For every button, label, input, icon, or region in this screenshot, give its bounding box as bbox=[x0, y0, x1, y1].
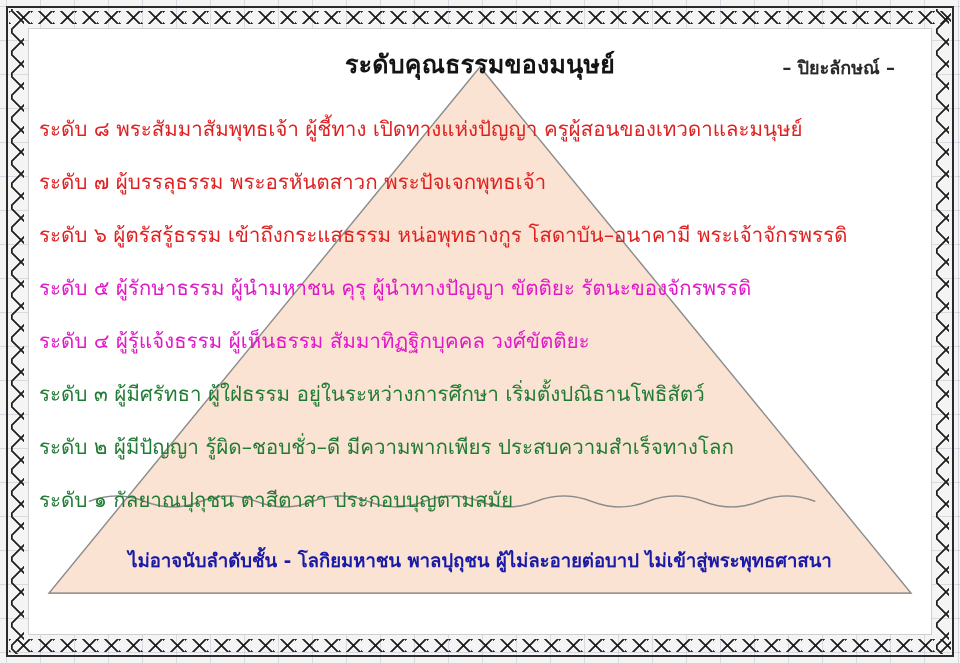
frame-zigzag-left bbox=[11, 9, 24, 654]
level-line-4: ระดับ ๔ ผู้รู้แจ้งธรรม ผู้เห็นธรรม สัมมา… bbox=[29, 315, 931, 368]
level-list: ระดับ ๘ พระสัมมาสัมพุทธเจ้า ผู้ชี้ทาง เป… bbox=[29, 103, 931, 527]
level-line-2: ระดับ ๒ ผู้มีปัญญา รู้ผิด–ชอบชั่ว–ดี มีค… bbox=[29, 421, 931, 474]
frame-zigzag-bottom bbox=[9, 639, 951, 652]
frame-zigzag-top bbox=[9, 11, 951, 24]
level-line-5: ระดับ ๕ ผู้รักษาธรรม ผู้นำมหาชน คุรุ ผู้… bbox=[29, 262, 931, 315]
footnote-text: ไม่อาจนับลำดับชั้น - โลกิยมหาชน พาลปุถุช… bbox=[29, 547, 931, 576]
frame-zigzag-right bbox=[936, 9, 949, 654]
level-line-8: ระดับ ๘ พระสัมมาสัมพุทธเจ้า ผู้ชี้ทาง เป… bbox=[29, 103, 931, 156]
level-line-1: ระดับ ๑ กัลยาณปุถุชน ตาสีตาสา ประกอบบุญต… bbox=[29, 474, 931, 527]
poster-page: ระดับคุณธรรมของมนุษย์ – ปิยะลักษณ์ – ระด… bbox=[28, 28, 932, 635]
poster-content: ระดับคุณธรรมของมนุษย์ – ปิยะลักษณ์ – ระด… bbox=[29, 29, 931, 634]
author-credit: – ปิยะลักษณ์ – bbox=[782, 53, 895, 82]
poster: ระดับคุณธรรมของมนุษย์ – ปิยะลักษณ์ – ระด… bbox=[0, 0, 960, 663]
level-line-7: ระดับ ๗ ผู้บรรลุธรรม พระอรหันตสาวก พระปั… bbox=[29, 156, 931, 209]
level-line-3: ระดับ ๓ ผู้มีศรัทธา ผู้ใฝ่ธรรม อยู่ในระห… bbox=[29, 368, 931, 421]
level-line-6: ระดับ ๖ ผู้ตรัสรู้ธรรม เข้าถึงกระแสธรรม … bbox=[29, 209, 931, 262]
